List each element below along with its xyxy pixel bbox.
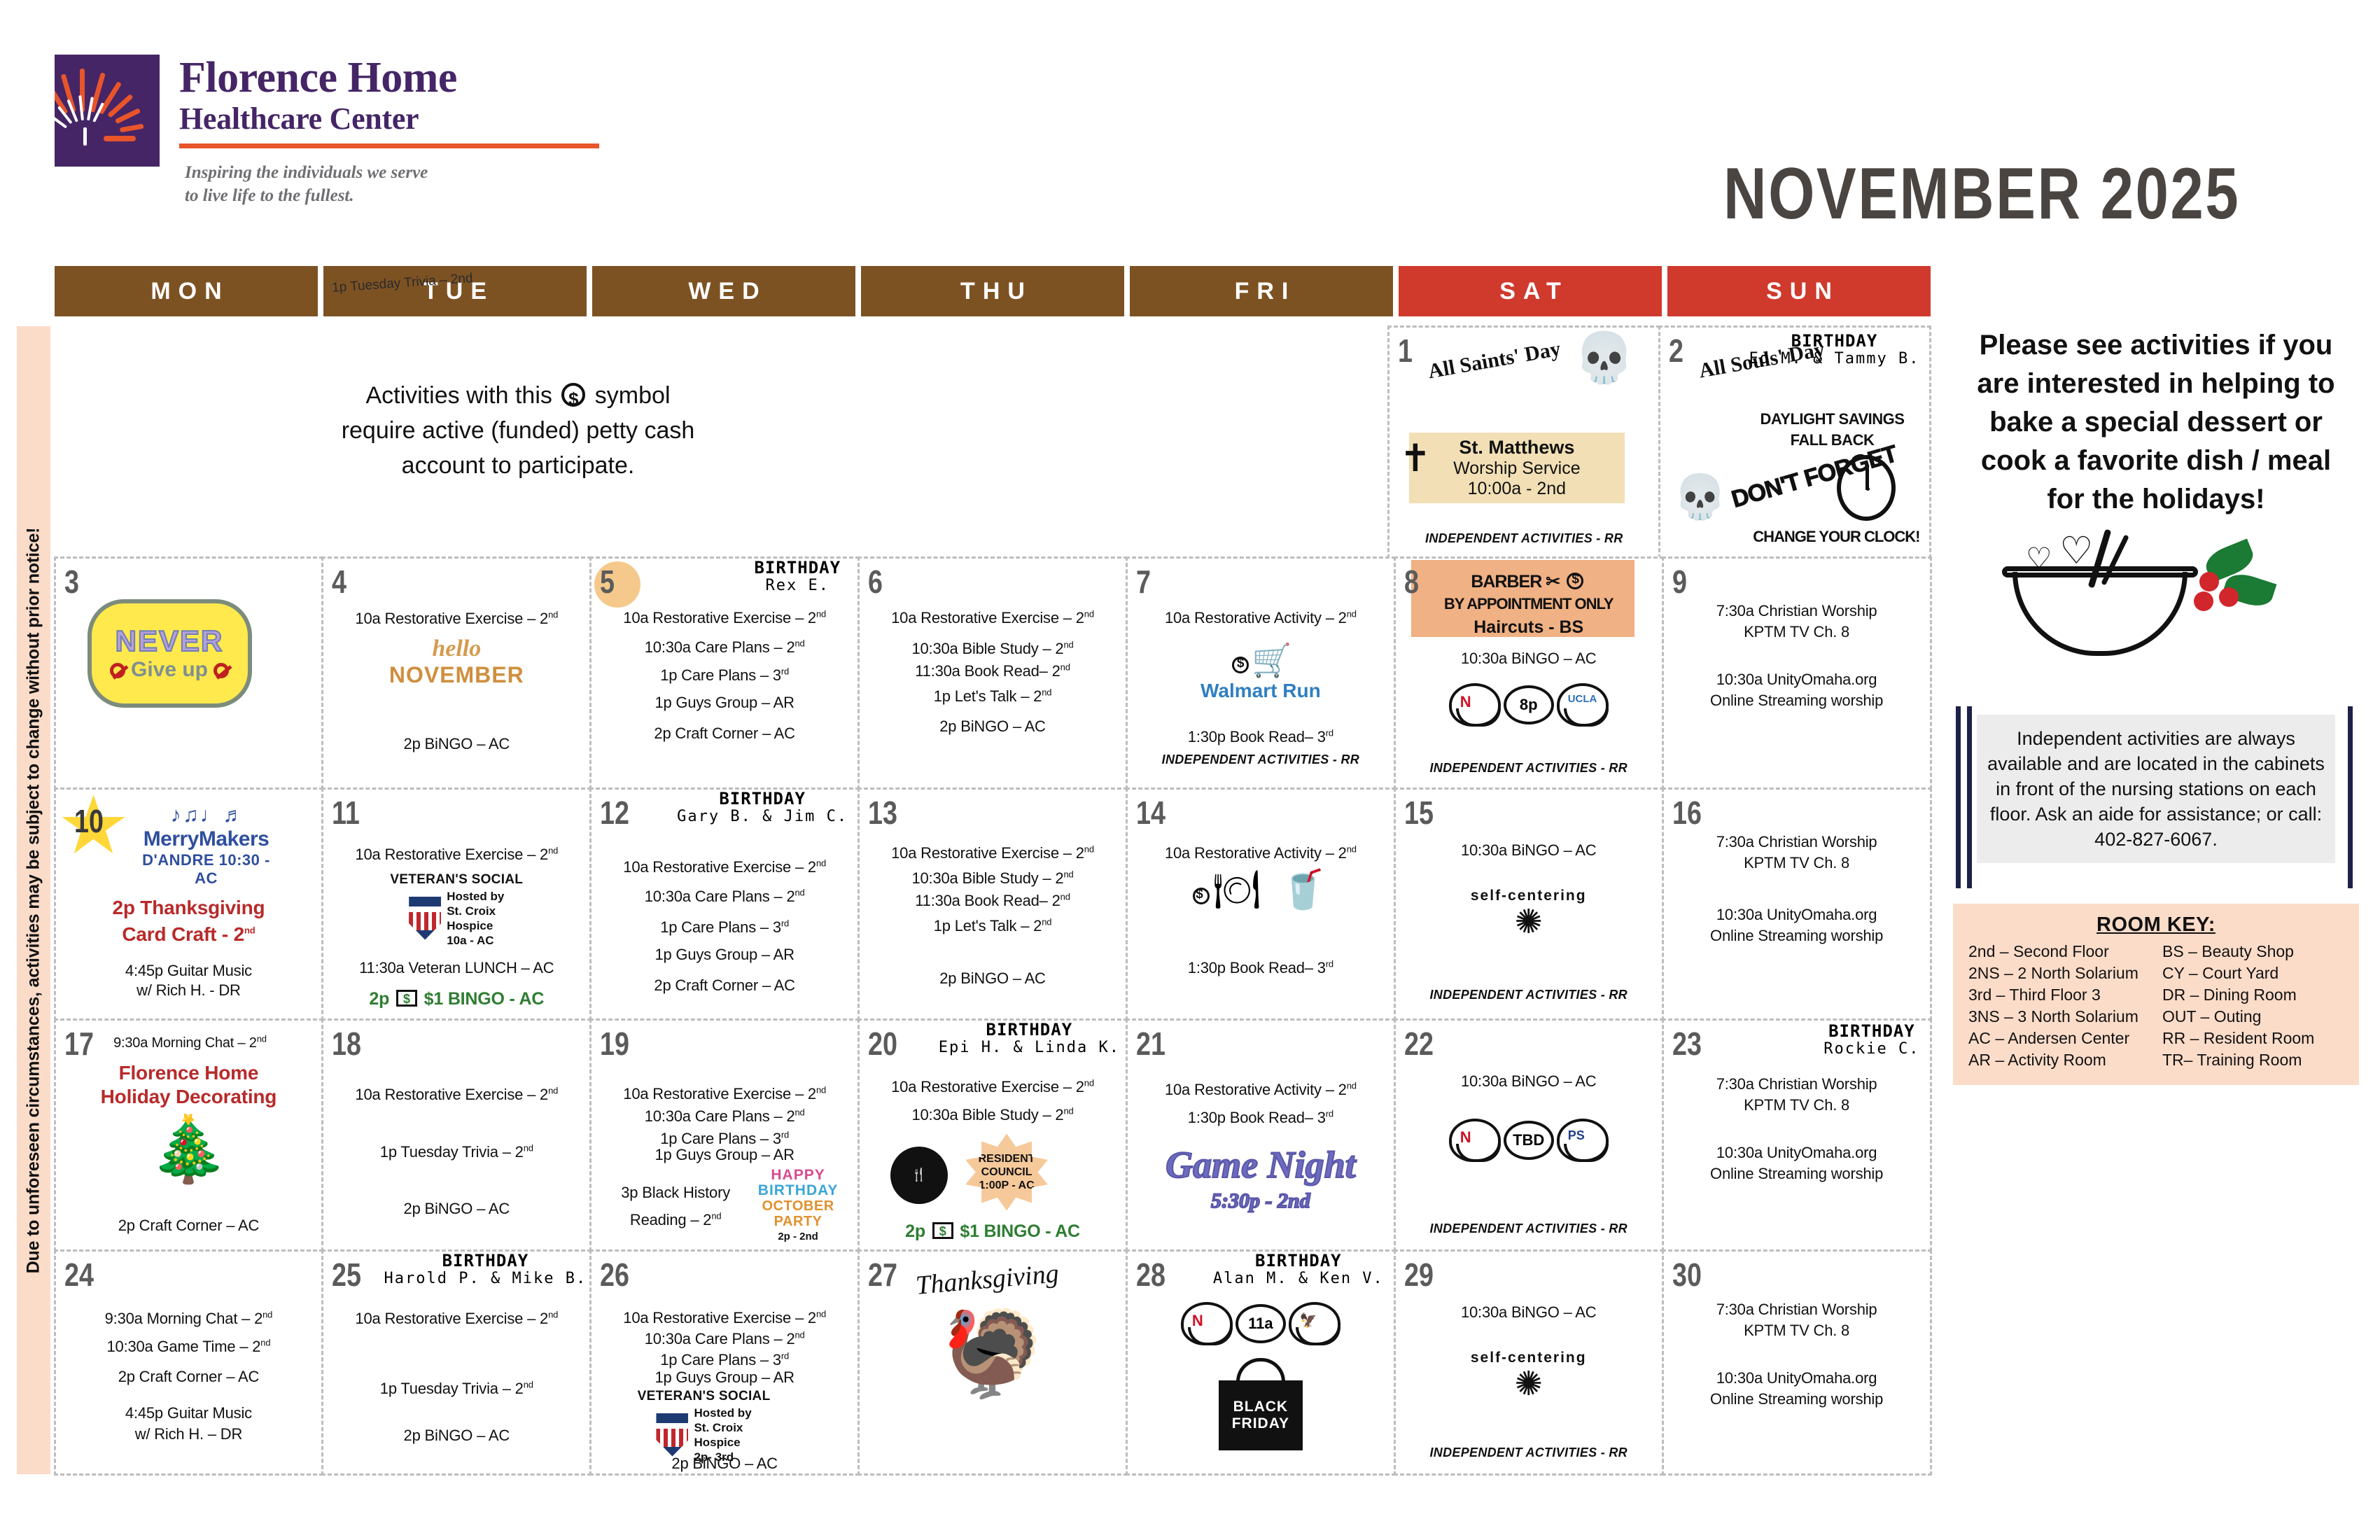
badge-line-2-text: Give up (131, 658, 208, 681)
football-icon: 8p (1504, 685, 1554, 724)
event-text: 7:30a Christian Worship (1716, 602, 1877, 619)
event-text: 2p Craft Corner – AC (654, 724, 794, 742)
room-key-item: 2nd – Second Floor (1968, 941, 2150, 962)
hello-november-art: hello NOVEMBER (323, 636, 589, 688)
room-key-item: CY – Court Yard (2162, 962, 2344, 984)
event-text: 1p Care Plans – 3rd (660, 666, 789, 684)
event-text: w/ Rich H. - DR (136, 981, 241, 999)
no-entry-icon (213, 663, 229, 678)
birthday-badge: BIRTHDAY Ed M. & Tammy B. (1749, 332, 1920, 368)
november-text: NOVEMBER (323, 662, 589, 688)
day-cell-5[interactable]: 5 BIRTHDAY Rex E. 10a Restorative Exerci… (589, 556, 860, 790)
event-item: 2p BiNGO – AC (323, 1425, 589, 1446)
team-logo: UCLA (1568, 693, 1597, 705)
event-text: 2p Craft Corner – AC (654, 976, 794, 994)
event-text: KPTM TV Ch. 8 (1744, 623, 1849, 640)
team-logo: PS (1568, 1128, 1585, 1143)
thanksgiving-label: Thanksgiving (915, 1258, 1060, 1301)
self-centering-label: self-centering (1396, 888, 1662, 904)
event-text: 1p Tuesday Trivia – 2nd (380, 1380, 533, 1397)
council-line-3: 1:00P - AC (979, 1179, 1035, 1192)
event-text: 2p (905, 1221, 925, 1241)
event-item: 10:30a BiNGO – AC (1396, 840, 1662, 861)
day-number: 3 (64, 563, 79, 601)
birthday-word: BIRTHDAY (939, 1021, 1120, 1039)
day-cell-17[interactable]: 17 9:30a Morning Chat – 2nd Florence Hom… (54, 1018, 324, 1252)
room-key-item: BS – Beauty Shop (2162, 941, 2344, 962)
month-title: NOVEMBER 2025 (1723, 153, 2240, 236)
walmart-label: Walmart Run (1128, 680, 1394, 702)
day-cell-6[interactable]: 6 10a Restorative Exercise – 2nd 10:30a … (857, 556, 1128, 790)
veterans-social-title: VETERAN'S SOCIAL (603, 1389, 805, 1404)
party-line-1: HAPPY (745, 1168, 850, 1183)
bowl-icon (2012, 572, 2187, 656)
room-key-title: ROOM KEY: (1968, 913, 2344, 937)
event-item: 7:30a Christian Worship (1664, 832, 1930, 853)
event-text: 10:30a BiNGO – AC (1461, 1072, 1596, 1090)
day-cell-28[interactable]: 28 BIRTHDAY Alan M. & Ken V. N 11a 🦅 BLA… (1126, 1249, 1396, 1476)
event-item: Online Streaming worship (1664, 1389, 1930, 1410)
day-number: 27 (868, 1256, 897, 1294)
event-text: 10:30a Care Plans – 2nd (645, 888, 805, 905)
event-item: 10a Restorative Activity – 2nd (1128, 605, 1394, 627)
event-text: 11:30a Book Read– 2nd (915, 662, 1070, 680)
helmet-icon: 🦅 (1289, 1302, 1340, 1345)
event-item: 11:30a Veteran LUNCH – AC (323, 958, 589, 979)
day-number: 5 (600, 563, 615, 601)
weekday-header-mon: MON (55, 266, 318, 316)
event-item: 10:30a BiNGO – AC (1396, 1302, 1662, 1323)
day-cell-8[interactable]: 8 BARBER ✂ BY APPOINTMENT ONLY Haircuts … (1394, 556, 1664, 790)
event-text: 10a Restorative Exercise – 2nd (355, 1086, 558, 1103)
hello-text: hello (323, 636, 589, 662)
day-cell-9[interactable]: 9 7:30a Christian Worship KPTM TV Ch. 8 … (1662, 556, 1932, 790)
day-number: 25 (332, 1256, 361, 1294)
day-cell-11[interactable]: 11 10a Restorative Exercise – 2nd VETERA… (321, 787, 591, 1021)
brand-tagline: Inspiring the individuals we serve to li… (185, 161, 599, 207)
event-item: 1p Care Plans – 3rd (591, 914, 857, 937)
burst-icon: ✺ (1396, 904, 1662, 941)
vet-line-3: Hospice (694, 1435, 751, 1450)
veteran-shield-icon (409, 897, 441, 940)
event-text: 2p Thanksgiving (112, 897, 265, 918)
independent-activities-text: Independent activities are always availa… (1977, 715, 2335, 863)
event-text: 10:30a BiNGO – AC (1461, 1303, 1596, 1321)
veterans-social-row: Hosted by St. Croix Hospice 10a - AC (323, 889, 589, 948)
event-item: 1p Guys Group – AR (591, 945, 857, 964)
day-cell-14[interactable]: 14 10a Restorative Activity – 2nd 🍽 🥤 1:… (1126, 787, 1396, 1021)
merrymakers-art: ♪ ♫ ♩ ♬ MerryMakers D'ANDRE 10:30 - AC (133, 804, 280, 888)
birthday-badge: BIRTHDAY Gary B. & Jim C. (677, 790, 848, 826)
event-item: 10:30a BiNGO – AC (1396, 648, 1662, 669)
event-text: 10:30a Care Plans – 2nd (645, 1107, 805, 1125)
page-header: Florence Home Healthcare Center Inspirin… (0, 0, 2380, 266)
day-cell-25[interactable]: 25 BIRTHDAY Harold P. & Mike B. 10a Rest… (321, 1249, 591, 1476)
birthday-word: BIRTHDAY (1823, 1022, 1919, 1040)
day-number: 4 (332, 563, 346, 601)
calendar-week-4: 17 9:30a Morning Chat – 2nd Florence Hom… (55, 1019, 1931, 1250)
event-item: 1p Tuesday Trivia – 2nd (323, 1375, 589, 1399)
room-key-item: DR – Dining Room (2162, 984, 2344, 1006)
dollar-coin-icon (1232, 657, 1249, 673)
room-key-item: AC – Andersen Center (1968, 1028, 2150, 1049)
event-item: 4:45p Guitar Music (56, 1403, 322, 1424)
event-text: 2p BiNGO – AC (404, 735, 510, 752)
event-item: KPTM TV Ch. 8 (1664, 1095, 1930, 1116)
vet-line-2: St. Croix (447, 904, 504, 918)
room-key-left-column: 2nd – Second Floor 2NS – 2 North Solariu… (1968, 941, 2150, 1071)
vet-line-1: Hosted by (694, 1406, 751, 1420)
no-entry-icon (110, 663, 125, 678)
party-line-4: 2p - 2nd (745, 1229, 850, 1245)
game-time: 8p (1520, 696, 1538, 714)
event-item: 10:30a Care Plans – 2nd (591, 634, 857, 657)
event-text: 1p Guys Group – AR (654, 694, 794, 711)
event-text: 11:30a Veteran LUNCH – AC (359, 959, 554, 976)
veterans-social-meta: Hosted by St. Croix Hospice 10a - AC (447, 889, 504, 948)
event-item: 11:30a Book Read– 2nd (860, 888, 1126, 910)
clock-icon (1837, 455, 1896, 521)
event-text: 2p BiNGO – AC (939, 969, 1045, 987)
day-number: 19 (600, 1025, 629, 1063)
self-centering-label: self-centering (1396, 1350, 1662, 1366)
veteran-shield-icon (656, 1413, 688, 1457)
room-key-item: 3NS – 3 North Solarium (1968, 1006, 2150, 1028)
day-cell-13[interactable]: 13 10a Restorative Exercise – 2nd 10:30a… (857, 787, 1128, 1021)
event-item: 10:30a Bible Study – 2nd (860, 865, 1126, 888)
birthday-badge: BIRTHDAY Alan M. & Ken V. (1213, 1252, 1384, 1288)
event-item: Florence Home (56, 1061, 322, 1084)
event-item: 10:30a UnityOmaha.org (1664, 1142, 1930, 1163)
event-item: 1p Tuesday Trivia – 2nd (323, 1138, 589, 1163)
event-text: 10a Restorative Exercise – 2nd (355, 846, 558, 863)
event-text: 1p Tuesday Trivia – 2nd (380, 1143, 533, 1161)
weekday-header-sat: SAT (1399, 266, 1662, 316)
weekday-label: SAT (1492, 278, 1568, 305)
event-item: 9:30a Morning Chat – 2nd (56, 1305, 322, 1329)
holly-berry-icon (2219, 587, 2239, 607)
day-cell-4[interactable]: 4 10a Restorative Exercise – 2nd hello N… (321, 556, 591, 790)
day-number: 24 (64, 1256, 94, 1294)
day-number: 2 (1669, 332, 1683, 370)
holly-berry-icon (2199, 572, 2219, 591)
event-text: 2p Craft Corner – AC (118, 1368, 259, 1385)
worship-line-2: Worship Service (1416, 458, 1617, 479)
day-cell-29[interactable]: 29 10:30a BiNGO – AC self-centering ✺ IN… (1394, 1249, 1664, 1476)
game-time: TBD (1513, 1131, 1544, 1149)
day-number: 14 (1136, 794, 1165, 832)
event-text: 10:30a Game Time – 2nd (107, 1338, 271, 1355)
day-cell-24[interactable]: 24 9:30a Morning Chat – 2nd 10:30a Game … (54, 1249, 324, 1476)
event-item: Holiday Decorating (56, 1085, 322, 1108)
game-night-time: 5:30p - 2nd (1128, 1183, 1394, 1219)
game-night-art: Game Night 5:30p - 2nd (1128, 1147, 1394, 1219)
day-number: 22 (1404, 1025, 1434, 1063)
event-item: 10:30a UnityOmaha.org (1664, 904, 1930, 925)
day-cell-3[interactable]: 3 NEVER Give up (54, 556, 324, 790)
barber-label: BARBER ✂ (1396, 571, 1662, 592)
event-item: 11:30a Book Read– 2nd (860, 658, 1126, 680)
disclaimer-vertical-note: Due to unforeseen circumstances, activit… (17, 326, 50, 1474)
event-item: 2p BiNGO – AC (860, 969, 1126, 988)
independent-activities-note: INDEPENDENT ACTIVITIES - RR (1396, 1218, 1662, 1239)
football-icon: 11a (1235, 1304, 1286, 1343)
event-text: 10:30a Care Plans – 2nd (645, 1330, 805, 1347)
event-item: 10a Restorative Activity – 2nd (1128, 1077, 1394, 1099)
empty-cell (587, 325, 856, 559)
game-night-label: Game Night (1165, 1144, 1356, 1186)
weekday-header-sun: SUN (1667, 266, 1931, 316)
event-text: KPTM TV Ch. 8 (1744, 854, 1849, 871)
christmas-tree-icon: 🎄 (56, 1116, 322, 1183)
helmet-icon: N (1449, 1119, 1501, 1162)
day-cell-16[interactable]: 16 7:30a Christian Worship KPTM TV Ch. 8… (1662, 787, 1932, 1021)
event-text: Online Streaming worship (1710, 692, 1883, 709)
event-text: 1:30p Book Read– 3rd (1188, 1109, 1333, 1126)
day-number: 23 (1672, 1025, 1702, 1063)
dst-line-1: DAYLIGHT SAVINGS (1744, 410, 1919, 428)
dollar-coin-icon (1193, 888, 1210, 904)
game-time: 11a (1248, 1315, 1273, 1333)
room-key-item: 2NS – 2 North Solarium (1968, 962, 2150, 984)
calendar-week-1: 1 All Saints' Day 💀 ✝ St. Matthews Worsh… (55, 326, 1931, 557)
weekday-header-tue: TUE 1p Tuesday Trivia – 2nd (323, 266, 587, 316)
birthday-word: BIRTHDAY (677, 790, 848, 808)
brand-title: Florence Home (179, 55, 599, 101)
party-line-3: OCTOBER PARTY (745, 1198, 850, 1229)
day-number: 6 (868, 563, 883, 601)
event-text: 10:30a UnityOmaha.org (1716, 1144, 1877, 1161)
council-line-2: COUNCIL (981, 1165, 1032, 1179)
birthday-badge: BIRTHDAY Rockie C. (1823, 1022, 1919, 1058)
event-item: 4:45p Guitar Music (56, 960, 322, 981)
event-text: 1p Care Plans – 3rd (660, 1351, 789, 1368)
helmet-icon: N (1181, 1302, 1233, 1345)
event-text: 10:30a BiNGO – AC (1461, 841, 1596, 859)
calendar-week-5: 24 9:30a Morning Chat – 2nd 10:30a Game … (55, 1250, 1931, 1474)
event-text: 2p Craft Corner – AC (118, 1217, 259, 1234)
weekday-label: WED (680, 278, 766, 305)
event-text: 10a Restorative Activity – 2nd (1165, 609, 1357, 626)
birthday-badge: BIRTHDAY Rex E. (754, 559, 841, 595)
event-text: 10:30a UnityOmaha.org (1716, 1369, 1877, 1387)
event-text: 2p BiNGO – AC (404, 1427, 510, 1444)
event-item: 1:30p Book Read– 3rd (1128, 724, 1394, 746)
day-number: 30 (1672, 1256, 1702, 1294)
day-cell-21[interactable]: 21 10a Restorative Activity – 2nd 1:30p … (1126, 1018, 1396, 1252)
day-number: 18 (332, 1025, 361, 1063)
vet-line-2: St. Croix (694, 1420, 751, 1435)
day-number: 12 (600, 794, 629, 832)
day-cell-15[interactable]: 15 10:30a BiNGO – AC self-centering ✺ IN… (1394, 787, 1664, 1021)
day-cell-10[interactable]: 10 ♪ ♫ ♩ ♬ MerryMakers D'ANDRE 10:30 - A… (54, 787, 324, 1021)
event-item: 2p Craft Corner – AC (591, 976, 857, 995)
event-item: 10a Restorative Exercise – 2nd (591, 854, 857, 876)
event-text: 10:30a BiNGO – AC (1461, 650, 1596, 667)
birthday-names: Alan M. & Ken V. (1213, 1270, 1384, 1288)
event-item: 1p Let's Talk – 2nd (860, 913, 1126, 935)
event-item: KPTM TV Ch. 8 (1664, 622, 1930, 643)
day-number: 11 (332, 794, 360, 832)
event-item: 10:30a Care Plans – 2nd (591, 1103, 857, 1126)
event-item: 2p $1 BINGO - AC (323, 988, 589, 1009)
change-clock-text: CHANGE YOUR CLOCK! (1753, 528, 1919, 546)
football-matchup-art: N TBD PS (1396, 1119, 1662, 1162)
self-centering-art: self-centering ✺ (1396, 1350, 1662, 1403)
event-item: 10:30a Care Plans – 2nd (591, 883, 857, 906)
event-text: 2p BiNGO – AC (671, 1455, 777, 1472)
day-cell-22[interactable]: 22 10:30a BiNGO – AC N TBD PS INDEPENDEN… (1394, 1018, 1664, 1252)
worship-title: St. Matthews (1416, 437, 1617, 458)
event-item: 7:30a Christian Worship (1664, 1074, 1930, 1095)
event-text: 1p Guys Group – AR (654, 1368, 794, 1386)
event-text: 11:30a Book Read– 2nd (915, 892, 1070, 909)
event-text: 1p Guys Group – AR (654, 1146, 794, 1163)
barber-text: BARBER (1471, 572, 1541, 591)
tagline-line-1: Inspiring the individuals we serve (185, 161, 599, 184)
event-item: 10a Restorative Exercise – 2nd (323, 605, 589, 629)
event-item: 10a Restorative Exercise – 2nd (591, 1081, 857, 1103)
event-item: 2p Thanksgiving (56, 896, 322, 919)
room-key-panel: ROOM KEY: 2nd – Second Floor 2NS – 2 Nor… (1953, 904, 2359, 1085)
event-text: Card Craft - 2nd (122, 923, 255, 945)
event-item: 10:30a Bible Study – 2nd (860, 1102, 1126, 1124)
day-number: 16 (1672, 794, 1702, 832)
day-cell-1[interactable]: 1 All Saints' Day 💀 ✝ St. Matthews Worsh… (1387, 325, 1660, 559)
skull-icon: 💀 (1673, 476, 1727, 519)
event-text: KPTM TV Ch. 8 (1744, 1096, 1849, 1114)
veterans-social-title: VETERAN'S SOCIAL (323, 872, 589, 888)
event-text: 2p BiNGO – AC (939, 717, 1045, 735)
birthday-badge: BIRTHDAY Epi H. & Linda K. (939, 1021, 1120, 1057)
day-cell-27[interactable]: 27 Thanksgiving 🦃 (857, 1249, 1128, 1476)
event-item: 10:30a Care Plans – 2nd (591, 1326, 857, 1348)
helmet-icon: PS (1557, 1119, 1609, 1162)
dollar-coin-icon (1567, 573, 1583, 589)
event-item: 1p Let's Talk – 2nd (860, 683, 1126, 706)
event-text: $1 BINGO - AC (960, 1221, 1080, 1241)
event-text: Reading – 2nd (630, 1211, 722, 1228)
birthday-word: BIRTHDAY (1749, 332, 1920, 350)
day-cell-26[interactable]: 26 10a Restorative Exercise – 2nd 10:30a… (589, 1249, 860, 1476)
holiday-label: All Saints' Day (1427, 337, 1563, 384)
event-item: 10:30a UnityOmaha.org (1664, 1368, 1930, 1389)
resident-council-art: RESIDENT COUNCIL 1:00P - AC (965, 1134, 1049, 1211)
black-friday-bag: BLACK FRIDAY (1219, 1380, 1303, 1450)
mixing-bowl-art: ♡ ♡ (1953, 523, 2359, 677)
brand-subtitle: Healthcare Center (179, 101, 599, 137)
day-cell-19[interactable]: 19 10a Restorative Exercise – 2nd 10:30a… (589, 1018, 860, 1252)
event-item: Online Streaming worship (1664, 690, 1930, 711)
room-key-item: OUT – Outing (2162, 1006, 2344, 1028)
brand-rule (179, 143, 599, 148)
event-item: 1p Guys Group – AR (591, 1368, 857, 1387)
day-cell-12[interactable]: 12 BIRTHDAY Gary B. & Jim C. 10a Restora… (589, 787, 860, 1021)
day-number: 28 (1136, 1256, 1165, 1294)
day-cell-20[interactable]: 20 BIRTHDAY Epi H. & Linda K. 10a Restor… (857, 1018, 1128, 1252)
event-text: 1p Care Plans – 3rd (660, 918, 789, 936)
event-item: 1p Guys Group – AR (591, 1145, 857, 1164)
event-text: 10:30a Bible Study – 2nd (911, 1106, 1073, 1123)
event-text: 10a Restorative Exercise – 2nd (891, 844, 1094, 862)
empty-cell (321, 325, 589, 559)
event-text: 1p Let's Talk – 2nd (934, 917, 1052, 934)
birthday-names: Rex E. (754, 577, 841, 595)
right-sidebar: Please see activities if you are interes… (1953, 326, 2359, 1085)
day-number: 10 (74, 802, 104, 840)
event-text: 1:30p Book Read– 3rd (1188, 728, 1333, 745)
weekday-label: THU (953, 278, 1032, 305)
event-text: 10:30a UnityOmaha.org (1716, 671, 1877, 688)
event-item: w/ Rich H. – DR (56, 1424, 322, 1445)
day-number: 20 (868, 1025, 897, 1063)
holly-berry-icon (2194, 591, 2213, 611)
day-cell-30[interactable]: 30 7:30a Christian Worship KPTM TV Ch. 8… (1662, 1249, 1932, 1476)
event-text: 1p Let's Talk – 2nd (934, 687, 1052, 705)
event-text: 10a Restorative Exercise – 2nd (623, 609, 826, 626)
cross-icon: ✝ (1399, 441, 1431, 476)
room-key-right-column: BS – Beauty Shop CY – Court Yard DR – Di… (2162, 941, 2344, 1071)
event-item: KPTM TV Ch. 8 (1664, 1320, 1930, 1341)
day-cell-23[interactable]: 23 BIRTHDAY Rockie C. 7:30a Christian Wo… (1662, 1018, 1932, 1252)
event-text: Online Streaming worship (1710, 1165, 1883, 1182)
event-text: 10a Restorative Activity – 2nd (1165, 1081, 1357, 1098)
black-friday-line-2: FRIDAY (1232, 1415, 1289, 1432)
takeout-art: 🍽 🥤 (1128, 868, 1394, 912)
birthday-party-art: HAPPY BIRTHDAY OCTOBER PARTY 2p - 2nd (745, 1168, 850, 1245)
event-text: 7:30a Christian Worship (1716, 1301, 1877, 1318)
weekday-header-wed: WED (592, 266, 855, 316)
event-text: 2p (369, 989, 389, 1009)
empty-cell (1121, 325, 1389, 559)
day-cell-7[interactable]: 7 10a Restorative Activity – 2nd 🛒 Walma… (1126, 556, 1396, 790)
event-item: 2p BiNGO – AC (323, 734, 589, 755)
event-item: KPTM TV Ch. 8 (1664, 853, 1930, 874)
event-text: Online Streaming worship (1710, 927, 1883, 944)
sunburst-logo-icon (55, 55, 160, 167)
shopping-bag-handle-icon (1236, 1358, 1285, 1382)
event-item: 1p Care Plans – 3rd (591, 1347, 857, 1369)
birthday-badge: BIRTHDAY Harold P. & Mike B. (384, 1252, 587, 1288)
event-item: 10a Restorative Exercise – 2nd (860, 1074, 1126, 1096)
event-item: 2p Craft Corner – AC (591, 724, 857, 743)
birthday-names: Ed M. & Tammy B. (1749, 350, 1920, 368)
dining-icon: 🍴 (890, 1147, 948, 1204)
event-item: 7:30a Christian Worship (1664, 1299, 1930, 1320)
never-give-up-badge: NEVER Give up (87, 599, 252, 708)
event-text: 10a Restorative Exercise – 2nd (623, 1309, 826, 1326)
bingo-card-icon (932, 1222, 953, 1239)
team-logo: N (1460, 693, 1471, 711)
day-number: 26 (600, 1256, 629, 1294)
haircuts-label: Haircuts - BS (1396, 617, 1662, 638)
veterans-social-art: VETERAN'S SOCIAL Hosted by St. Croix Hos… (323, 872, 589, 948)
tagline-line-2: to live life to the fullest. (185, 184, 599, 207)
event-item: 10a Restorative Exercise – 2nd (323, 1305, 589, 1329)
birthday-word: BIRTHDAY (754, 559, 841, 577)
event-text: 4:45p Guitar Music (125, 1404, 252, 1422)
worship-block: ✝ St. Matthews Worship Service 10:00a - … (1409, 433, 1624, 503)
event-item: 1:30p Book Read– 3rd (1128, 1105, 1394, 1127)
disclaimer-text: Due to unforeseen circumstances, activit… (24, 527, 44, 1273)
event-text: Florence Home (119, 1062, 259, 1084)
team-logo: 🦅 (1300, 1312, 1317, 1329)
event-text: 10:30a Bible Study – 2nd (911, 869, 1073, 887)
day-cell-2[interactable]: 2 All Souls' Day BIRTHDAY Ed M. & Tammy … (1658, 325, 1931, 559)
badge-line-1: NEVER (115, 624, 224, 658)
black-friday-line-1: BLACK (1233, 1399, 1289, 1415)
empty-cell (54, 325, 323, 559)
